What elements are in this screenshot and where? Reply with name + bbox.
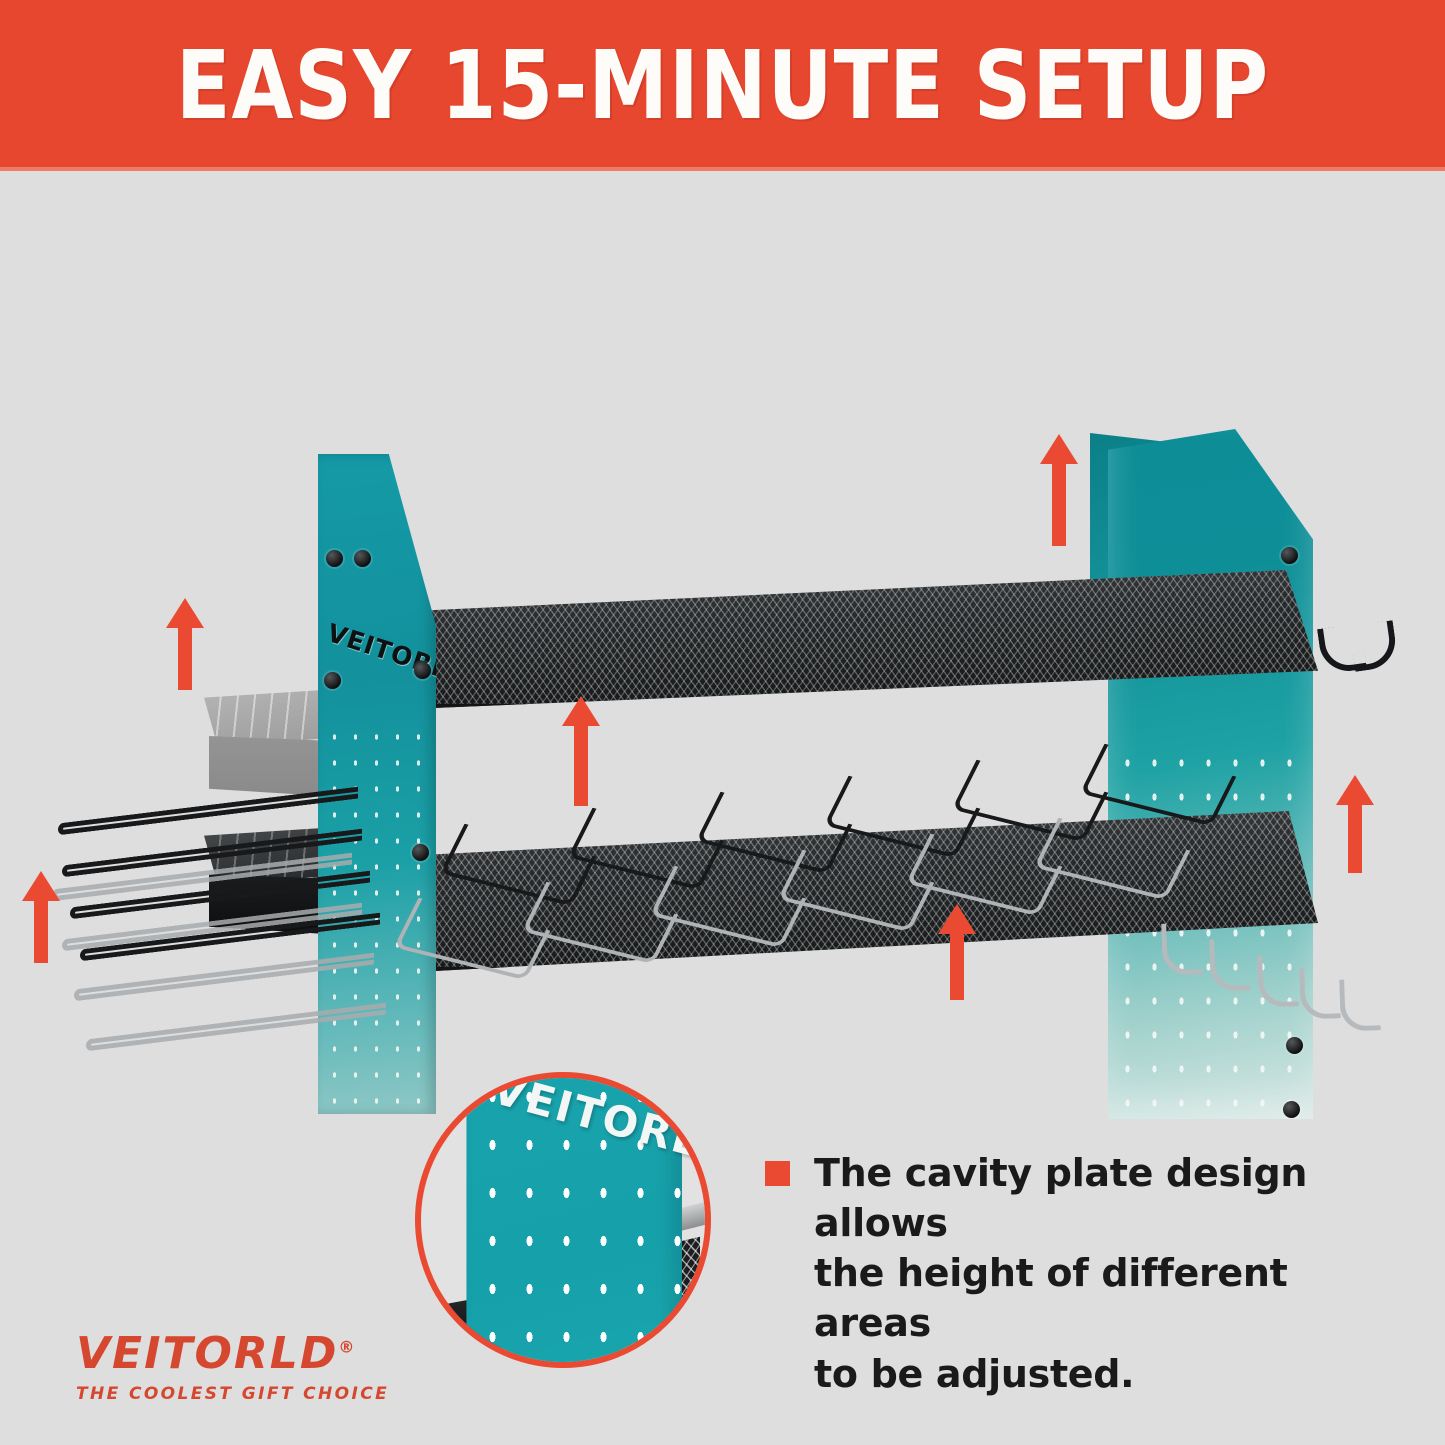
brand-name: VEITORLD® bbox=[76, 1332, 356, 1376]
adjust-arrow-up-icon bbox=[938, 904, 976, 1000]
panel-notch bbox=[395, 454, 439, 466]
caption-line: The cavity plate design allows bbox=[814, 1148, 1405, 1248]
mount-bolt bbox=[1286, 1037, 1303, 1054]
j-hook-icon bbox=[1339, 978, 1381, 1031]
header-banner: EASY 15-MINUTE SETUP bbox=[0, 0, 1445, 171]
brand-trademark-icon: ® bbox=[338, 1337, 356, 1356]
mount-bolt bbox=[412, 844, 429, 861]
mount-bolt bbox=[324, 672, 341, 689]
arrow-shaft bbox=[1348, 801, 1362, 873]
arrow-shaft bbox=[950, 930, 964, 1000]
brand-wordmark: VEITORLD bbox=[76, 1328, 338, 1379]
adjust-arrow-up-icon bbox=[22, 871, 60, 963]
infographic-page: EASY 15-MINUTE SETUP bbox=[0, 0, 1445, 1445]
mount-bolt bbox=[414, 662, 431, 679]
arrow-shaft bbox=[574, 722, 588, 806]
mount-bolt bbox=[354, 550, 371, 567]
adjust-arrow-up-icon bbox=[562, 696, 600, 806]
mount-bolt bbox=[326, 550, 343, 567]
mount-bolt bbox=[1281, 547, 1298, 564]
arrow-shaft bbox=[34, 897, 48, 963]
adjust-arrow-up-icon bbox=[1336, 775, 1374, 873]
brand-logo: VEITORLD® THE COOLEST GIFT CHOICE bbox=[76, 1332, 389, 1404]
brand-tagline: THE COOLEST GIFT CHOICE bbox=[76, 1384, 389, 1404]
caption-line: to be adjusted. bbox=[814, 1349, 1405, 1399]
side-hook-icon bbox=[1349, 620, 1399, 672]
feature-caption: The cavity plate design allows the heigh… bbox=[765, 1148, 1405, 1399]
caption-text: The cavity plate design allows the heigh… bbox=[814, 1148, 1405, 1399]
adjust-arrow-up-icon bbox=[1040, 434, 1078, 546]
arrow-shaft bbox=[178, 624, 192, 690]
page-title: EASY 15-MINUTE SETUP bbox=[176, 38, 1269, 132]
cavity-plate-zoom-callout: VEITORLD® bbox=[415, 1072, 711, 1368]
adjust-arrow-up-icon bbox=[166, 598, 204, 690]
caption-line: the height of different areas bbox=[814, 1248, 1405, 1348]
arrow-shaft bbox=[1052, 460, 1066, 546]
mount-bolt bbox=[1283, 1101, 1300, 1118]
bullet-square-icon bbox=[765, 1161, 790, 1186]
